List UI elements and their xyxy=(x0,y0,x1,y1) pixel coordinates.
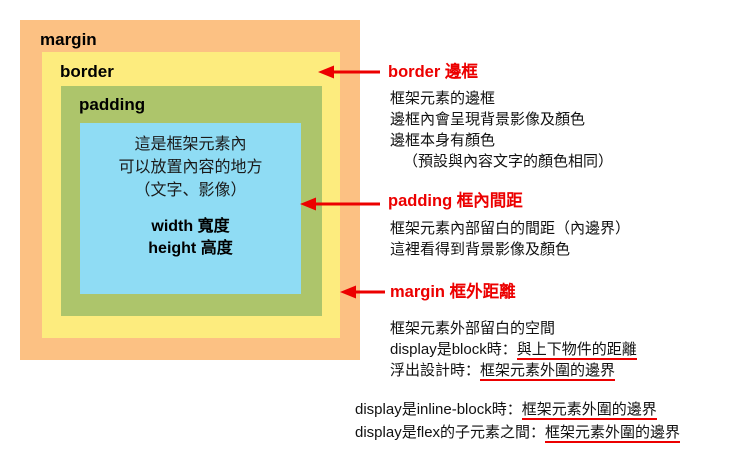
annotation-heading-margin: margin 框外距離 xyxy=(390,284,516,301)
padding-desc-line-2: 這裡看得到背景影像及顏色 xyxy=(390,239,630,260)
border-desc-line-2: 邊框內會呈現背景影像及顏色 xyxy=(390,109,613,130)
padding-desc-line-1: 框架元素內部留白的間距（內邊界） xyxy=(390,218,630,239)
content-width-label: width 寬度 xyxy=(151,216,229,238)
annotation-body-padding: 框架元素內部留白的間距（內邊界） 這裡看得到背景影像及顏色 xyxy=(390,218,630,260)
margin-block-underlined: 與上下物件的距離 xyxy=(517,341,637,360)
border-desc-line-1: 框架元素的邊框 xyxy=(390,88,613,109)
margin-float-underlined: 框架元素外圍的邊界 xyxy=(480,362,615,381)
content-height-label: height 高度 xyxy=(148,238,232,260)
inline-block-underlined: 框架元素外圍的邊界 xyxy=(522,401,657,420)
box-model-diagram: margin border padding 這是框架元素內 可以放置內容的地方 … xyxy=(20,20,360,360)
border-callout-arrow xyxy=(318,65,380,79)
padding-label: padding xyxy=(79,96,145,113)
margin-float-prefix: 浮出設計時： xyxy=(390,362,480,379)
bottom-notes: display是inline-block時：框架元素外圍的邊界 display是… xyxy=(355,398,680,444)
margin-callout-arrow xyxy=(340,285,385,299)
annotation-heading-border: border 邊框 xyxy=(388,64,478,81)
content-text-line-3: （文字、影像） xyxy=(134,179,246,202)
annotation-body-border: 框架元素的邊框 邊框內會呈現背景影像及顏色 邊框本身有顏色 （預設與內容文字的顏… xyxy=(390,88,613,172)
margin-desc-line-1: 框架元素外部留白的空間 xyxy=(390,318,637,339)
inline-block-prefix: display是inline-block時： xyxy=(355,401,522,418)
content-text-line-2: 可以放置內容的地方 xyxy=(118,156,262,179)
bottom-note-line-2: display是flex的子元素之間：框架元素外圍的邊界 xyxy=(355,421,680,444)
border-box-region: border padding 這是框架元素內 可以放置內容的地方 （文字、影像）… xyxy=(42,52,340,338)
padding-callout-arrow xyxy=(300,197,380,211)
margin-desc-line-3: 浮出設計時：框架元素外圍的邊界 xyxy=(390,360,637,381)
padding-box-region: padding 這是框架元素內 可以放置內容的地方 （文字、影像） width … xyxy=(61,86,322,316)
margin-label: margin xyxy=(40,31,97,48)
border-desc-line-4: （預設與內容文字的顏色相同） xyxy=(390,151,613,172)
border-label: border xyxy=(60,63,114,80)
annotation-heading-padding: padding 框內間距 xyxy=(388,193,523,210)
flex-child-prefix: display是flex的子元素之間： xyxy=(355,424,545,441)
flex-child-underlined: 框架元素外圍的邊界 xyxy=(545,424,680,443)
content-text-line-1: 這是框架元素內 xyxy=(134,133,246,156)
bottom-note-line-1: display是inline-block時：框架元素外圍的邊界 xyxy=(355,398,680,421)
margin-block-prefix: display是block時： xyxy=(390,341,517,358)
content-box-region: 這是框架元素內 可以放置內容的地方 （文字、影像） width 寬度 heigh… xyxy=(80,123,301,294)
annotation-body-margin: 框架元素外部留白的空間 display是block時：與上下物件的距離 浮出設計… xyxy=(390,318,637,381)
margin-desc-line-2: display是block時：與上下物件的距離 xyxy=(390,339,637,360)
border-desc-line-3: 邊框本身有顏色 xyxy=(390,130,613,151)
